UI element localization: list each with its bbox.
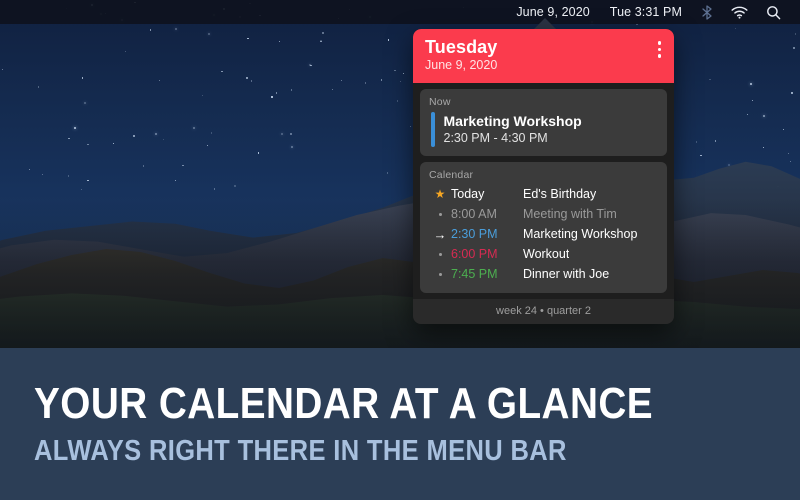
menubar-clock[interactable]: Tue 3:31 PM (600, 0, 692, 24)
star (750, 83, 752, 85)
star (394, 70, 395, 71)
star (410, 126, 411, 127)
star (763, 147, 764, 148)
marketing-banner: YOUR CALENDAR AT A GLANCE ALWAYS RIGHT T… (0, 348, 800, 500)
event-list: ★TodayEd's Birthday8:00 AMMeeting with T… (429, 185, 658, 284)
star (159, 80, 160, 81)
star (793, 47, 794, 48)
popup-weekday: Tuesday (425, 37, 662, 57)
now-accent-bar (431, 112, 435, 147)
star (68, 138, 69, 139)
star (795, 33, 796, 34)
now-event-time: 2:30 PM - 4:30 PM (444, 130, 582, 147)
star (221, 71, 222, 72)
event-title: Meeting with Tim (523, 207, 617, 221)
event-title: Workout (523, 247, 569, 261)
star (388, 39, 389, 40)
star (700, 155, 701, 156)
star (87, 180, 88, 181)
star (271, 96, 272, 97)
popup-header: Tuesday June 9, 2020 (413, 29, 674, 83)
star (150, 29, 151, 30)
banner-headline: YOUR CALENDAR AT A GLANCE (34, 382, 708, 427)
star (783, 129, 784, 130)
star (276, 92, 277, 93)
star (709, 79, 710, 80)
star (214, 188, 215, 189)
event-row[interactable]: →2:30 PMMarketing Workshop (429, 225, 658, 244)
star (365, 82, 366, 83)
star (320, 41, 321, 42)
star (143, 165, 144, 166)
star (291, 89, 292, 90)
star (397, 100, 398, 101)
event-row[interactable]: 7:45 PMDinner with Joe (429, 265, 658, 284)
star (696, 141, 697, 142)
popup-date: June 9, 2020 (425, 58, 662, 74)
star (791, 92, 792, 93)
desktop-wallpaper (0, 0, 800, 348)
arrow-icon: → (434, 228, 447, 241)
star (133, 135, 134, 136)
event-time: 6:00 PM (451, 247, 523, 261)
event-marker (429, 253, 451, 256)
star (125, 51, 126, 52)
star (246, 77, 247, 78)
star (155, 133, 157, 135)
star (234, 185, 235, 186)
star (790, 161, 791, 162)
star (332, 89, 333, 90)
star (182, 165, 183, 166)
calendar-card: Calendar ★TodayEd's Birthday8:00 AMMeeti… (420, 162, 667, 293)
event-marker: → (429, 228, 451, 241)
event-time: 8:00 AM (451, 207, 523, 221)
event-time: Today (451, 187, 523, 201)
event-title: Dinner with Joe (523, 267, 609, 281)
menubar-date[interactable]: June 9, 2020 (506, 0, 599, 24)
star (715, 140, 716, 141)
dot-icon (439, 213, 442, 216)
calendar-popup: Tuesday June 9, 2020 Now Marketing Works… (413, 29, 674, 324)
event-row[interactable]: 6:00 PMWorkout (429, 245, 658, 264)
star (747, 114, 748, 115)
star (403, 73, 404, 74)
star (251, 80, 252, 81)
menu-bar: June 9, 2020 Tue 3:31 PM (0, 0, 800, 24)
star (281, 133, 283, 135)
event-marker: ★ (429, 188, 451, 200)
event-row[interactable]: 8:00 AMMeeting with Tim (429, 205, 658, 224)
dot-icon (439, 273, 442, 276)
star (400, 81, 401, 82)
star (788, 153, 789, 154)
now-event-title: Marketing Workshop (444, 112, 582, 130)
search-icon[interactable] (757, 0, 790, 24)
event-title: Marketing Workshop (523, 227, 637, 241)
now-event-row[interactable]: Marketing Workshop 2:30 PM - 4:30 PM (429, 112, 658, 147)
star (82, 77, 83, 78)
event-marker (429, 273, 451, 276)
dot-icon (439, 253, 442, 256)
star (113, 143, 114, 144)
star (68, 175, 69, 176)
star (290, 133, 291, 134)
popup-footer: week 24 • quarter 2 (413, 299, 674, 324)
star (207, 145, 208, 146)
star (84, 102, 86, 104)
star (74, 127, 76, 129)
star (2, 69, 3, 70)
now-card[interactable]: Now Marketing Workshop 2:30 PM - 4:30 PM (420, 89, 667, 156)
event-title: Ed's Birthday (523, 187, 596, 201)
star (387, 172, 388, 173)
star (636, 24, 637, 25)
star (279, 41, 280, 42)
bluetooth-icon[interactable] (692, 0, 722, 24)
star-icon: ★ (435, 188, 446, 200)
star (211, 132, 212, 133)
star (163, 139, 164, 140)
star (87, 144, 88, 145)
kebab-menu-icon[interactable] (656, 39, 664, 60)
star (341, 80, 342, 81)
star (258, 152, 259, 153)
event-row[interactable]: ★TodayEd's Birthday (429, 185, 658, 204)
star (175, 28, 177, 30)
event-time: 7:45 PM (451, 267, 523, 281)
wifi-icon[interactable] (722, 0, 757, 24)
star (728, 164, 730, 166)
event-time: 2:30 PM (451, 227, 523, 241)
now-label: Now (429, 96, 658, 108)
calendar-label: Calendar (429, 169, 658, 181)
star (42, 174, 43, 175)
star (322, 32, 323, 33)
popup-body: Now Marketing Workshop 2:30 PM - 4:30 PM… (413, 83, 674, 293)
banner-subhead: ALWAYS RIGHT THERE IN THE MENU BAR (34, 436, 708, 466)
star (38, 86, 39, 87)
star (81, 189, 82, 190)
star (752, 100, 753, 101)
event-marker (429, 213, 451, 216)
star (202, 95, 203, 96)
star (291, 146, 293, 148)
star (381, 79, 382, 80)
star (175, 180, 176, 181)
star (763, 115, 765, 117)
screenshot-root: June 9, 2020 Tue 3:31 PM Tuesday (0, 0, 800, 500)
star (208, 33, 210, 35)
star (247, 38, 248, 39)
star (29, 169, 30, 170)
star (193, 127, 195, 129)
star (735, 28, 736, 29)
